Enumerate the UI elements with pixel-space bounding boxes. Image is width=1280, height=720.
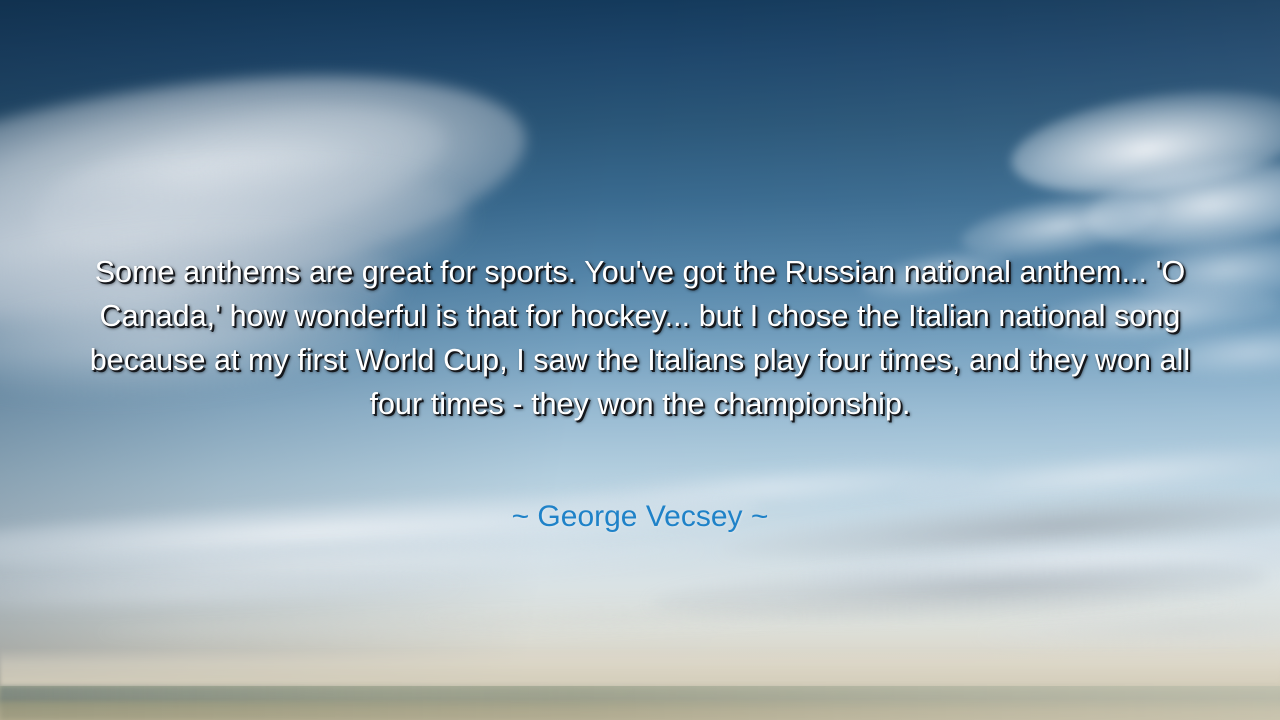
quote-wallpaper: Some anthems are great for sports. You'v…	[0, 0, 1280, 720]
quote-block: Some anthems are great for sports. You'v…	[0, 250, 1280, 426]
quote-author: ~ George Vecsey ~	[0, 498, 1280, 536]
quote-text: Some anthems are great for sports. You'v…	[60, 250, 1220, 426]
landscape-atmospheric-haze	[0, 686, 1280, 720]
